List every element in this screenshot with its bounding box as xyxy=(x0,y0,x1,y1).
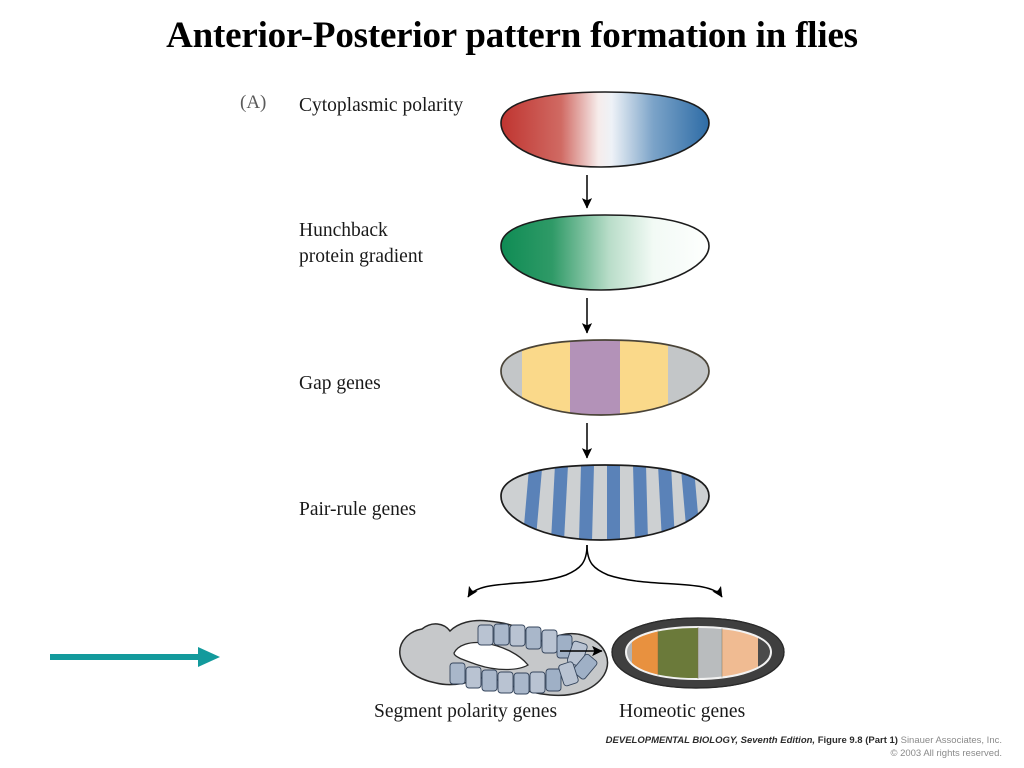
footer-figure: Figure 9.8 (Part 1) xyxy=(818,735,898,746)
embryo-gap-genes xyxy=(495,338,715,418)
embryo-homeotic-genes xyxy=(608,612,788,694)
embryo-pair-rule-genes xyxy=(495,457,715,550)
embryo-hunchback-gradient xyxy=(495,213,715,293)
stage-label-gap-genes: Gap genes xyxy=(299,371,381,397)
page-title: Anterior-Posterior pattern formation in … xyxy=(0,14,1024,57)
pathway-diagram xyxy=(380,85,800,710)
branch-arrows xyxy=(468,545,722,597)
teal-pointer-arrow xyxy=(48,640,224,674)
embryo-segment-polarity-genes xyxy=(400,620,608,695)
footer-edition: Seventh Edition, xyxy=(741,735,815,746)
footer-copyright: © 2003 All rights reserved. xyxy=(606,748,1002,760)
embryo-cytoplasmic-polarity xyxy=(495,90,715,170)
footer-book-title: DEVELOPMENTAL BIOLOGY, xyxy=(606,735,738,746)
slide-canvas: Anterior-Posterior pattern formation in … xyxy=(0,0,1024,768)
footer-publisher: Sinauer Associates, Inc. xyxy=(901,735,1002,746)
figure-attribution: DEVELOPMENTAL BIOLOGY, Seventh Edition, … xyxy=(606,735,1002,760)
panel-letter-a: (A) xyxy=(240,92,266,114)
